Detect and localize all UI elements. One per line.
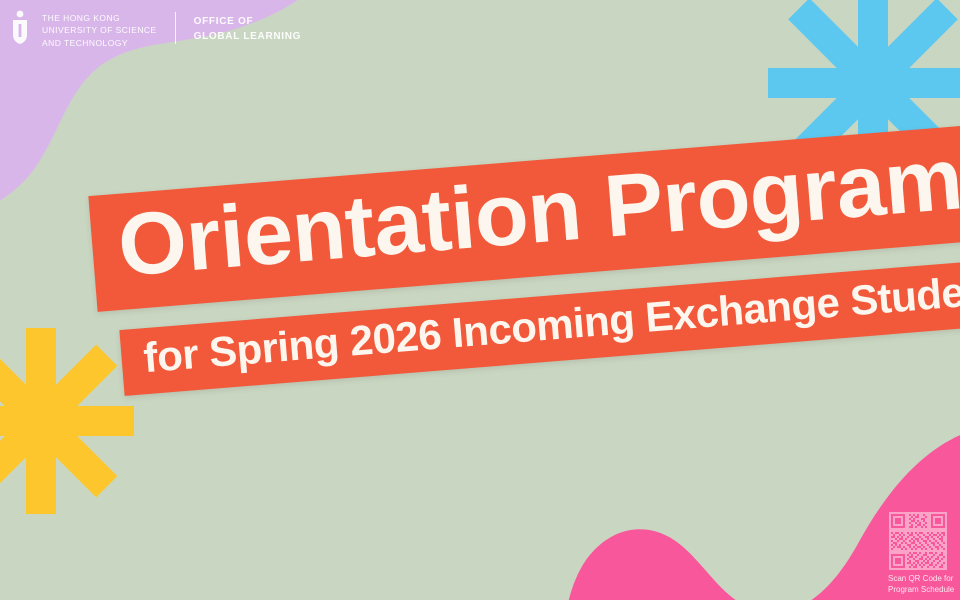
qr-caption: Scan QR Code for Program Schedule	[888, 574, 960, 596]
orientation-poster: THE HONG KONG UNIVERSITY OF SCIENCE AND …	[0, 0, 960, 600]
qr-caption-line2: Program Schedule	[888, 585, 960, 596]
qr-caption-line1: Scan QR Code for	[888, 574, 960, 585]
qr-code-icon[interactable]	[888, 512, 948, 570]
title-block: Orientation Program for Spring 2026 Inco…	[0, 0, 960, 600]
qr-block[interactable]: Scan QR Code for Program Schedule	[888, 512, 960, 596]
